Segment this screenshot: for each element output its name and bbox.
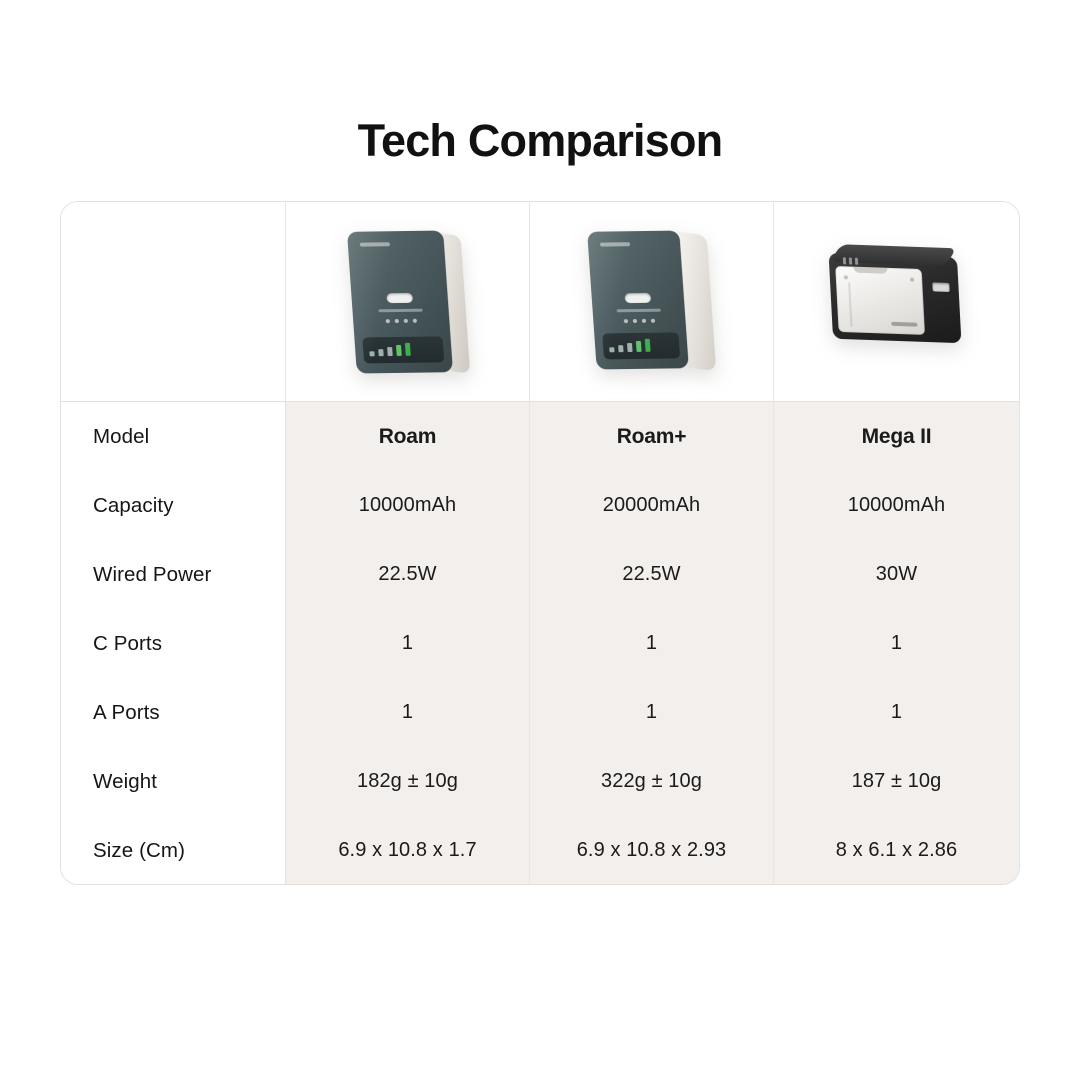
table-cell-capacity-mega-ii: 10000mAh [773, 471, 1019, 540]
charge-bar [618, 345, 623, 352]
roam-plus-bottom-bar [602, 332, 680, 359]
roam-led-indicators [385, 318, 416, 322]
roam-plus-led-indicators [623, 318, 654, 322]
row-label-wired-power: Wired Power [61, 540, 285, 609]
product-image-row [61, 202, 1019, 402]
charge-bar [387, 347, 393, 356]
charge-bar [609, 347, 614, 352]
mega-ii-usb-port [932, 282, 950, 292]
roam-plus-device-body [587, 230, 689, 369]
roam-front-face [346, 230, 452, 373]
charge-bar [404, 342, 410, 355]
roam-power-bank-icon [318, 217, 498, 387]
mega-ii-power-bank-icon [807, 217, 987, 387]
charge-bar [369, 351, 374, 356]
table-cell-weight-mega-ii: 187 ± 10g [773, 747, 1019, 816]
table-cell-size-mega-ii: 8 x 6.1 x 2.86 [773, 816, 1019, 885]
table-cell-a-ports-roam: 1 [285, 678, 529, 747]
roam-spec-text [378, 308, 422, 312]
table-cell-model-roam: Roam [285, 402, 529, 471]
comparison-table: Model Roam Roam+ Mega II Capacity 10000m… [60, 201, 1020, 885]
row-label-model: Model [61, 402, 285, 471]
row-label-weight: Weight [61, 747, 285, 816]
charge-bar [626, 343, 632, 352]
mega-ii-plate-notch [852, 266, 887, 274]
table-cell-model-roam-plus: Roam+ [529, 402, 773, 471]
row-label-capacity: Capacity [61, 471, 285, 540]
mega-ii-front-plate [835, 266, 925, 335]
row-label-a-ports: A Ports [61, 678, 285, 747]
spec-rows: Model Roam Roam+ Mega II Capacity 10000m… [61, 402, 1019, 885]
table-cell-model-mega-ii: Mega II [773, 402, 1019, 471]
charge-bar [395, 344, 401, 355]
charge-bar [644, 338, 650, 351]
roam-charge-bars [368, 342, 410, 356]
row-label-c-ports: C Ports [61, 609, 285, 678]
mega-ii-screw-dot [909, 277, 913, 281]
mega-ii-device-body [828, 252, 961, 342]
table-grid: Model Roam Roam+ Mega II Capacity 10000m… [61, 202, 1019, 884]
comparison-page: Tech Comparison [0, 0, 1080, 1080]
roam-bottom-bar [362, 336, 444, 363]
vent-slot [854, 257, 857, 264]
mega-ii-vents [842, 257, 857, 265]
led-dot [641, 318, 645, 322]
table-cell-weight-roam-plus: 322g ± 10g [529, 747, 773, 816]
roam-plus-power-bank-icon [562, 217, 742, 387]
mega-ii-brand-mark [891, 321, 917, 326]
roam-plus-front-face [587, 230, 689, 369]
led-dot [412, 318, 416, 322]
led-dot [394, 318, 398, 322]
table-cell-a-ports-roam-plus: 1 [529, 678, 773, 747]
vent-slot [848, 257, 851, 264]
led-dot [385, 319, 389, 323]
page-title: Tech Comparison [0, 114, 1080, 168]
table-cell-wired-power-roam-plus: 22.5W [529, 540, 773, 609]
product-image-cell-mega-ii [773, 202, 1019, 401]
roam-plus-port-slot [624, 292, 651, 302]
roam-device-body [346, 230, 452, 373]
table-cell-wired-power-roam: 22.5W [285, 540, 529, 609]
table-cell-capacity-roam-plus: 20000mAh [529, 471, 773, 540]
led-dot [650, 318, 654, 322]
charge-bar [635, 340, 641, 351]
image-row-empty-corner [61, 202, 285, 401]
table-cell-c-ports-mega-ii: 1 [773, 609, 1019, 678]
led-dot [403, 318, 407, 322]
table-cell-size-roam: 6.9 x 10.8 x 1.7 [285, 816, 529, 885]
roam-plus-brand-mark [599, 242, 629, 246]
table-cell-wired-power-mega-ii: 30W [773, 540, 1019, 609]
table-cell-weight-roam: 182g ± 10g [285, 747, 529, 816]
roam-port-slot [386, 292, 413, 302]
charge-bar [378, 349, 383, 356]
roam-plus-charge-bars [608, 338, 650, 352]
product-image-cell-roam-plus [529, 202, 773, 401]
mega-ii-screw-dot [843, 275, 847, 279]
mega-ii-plate-seam [848, 282, 852, 326]
vent-slot [842, 257, 845, 264]
led-dot [632, 318, 636, 322]
roam-brand-mark [359, 242, 389, 246]
table-cell-c-ports-roam: 1 [285, 609, 529, 678]
table-cell-size-roam-plus: 6.9 x 10.8 x 2.93 [529, 816, 773, 885]
table-cell-c-ports-roam-plus: 1 [529, 609, 773, 678]
roam-plus-spec-text [616, 308, 660, 312]
row-label-size: Size (Cm) [61, 816, 285, 885]
table-cell-a-ports-mega-ii: 1 [773, 678, 1019, 747]
led-dot [623, 319, 627, 323]
table-cell-capacity-roam: 10000mAh [285, 471, 529, 540]
product-image-cell-roam [285, 202, 529, 401]
